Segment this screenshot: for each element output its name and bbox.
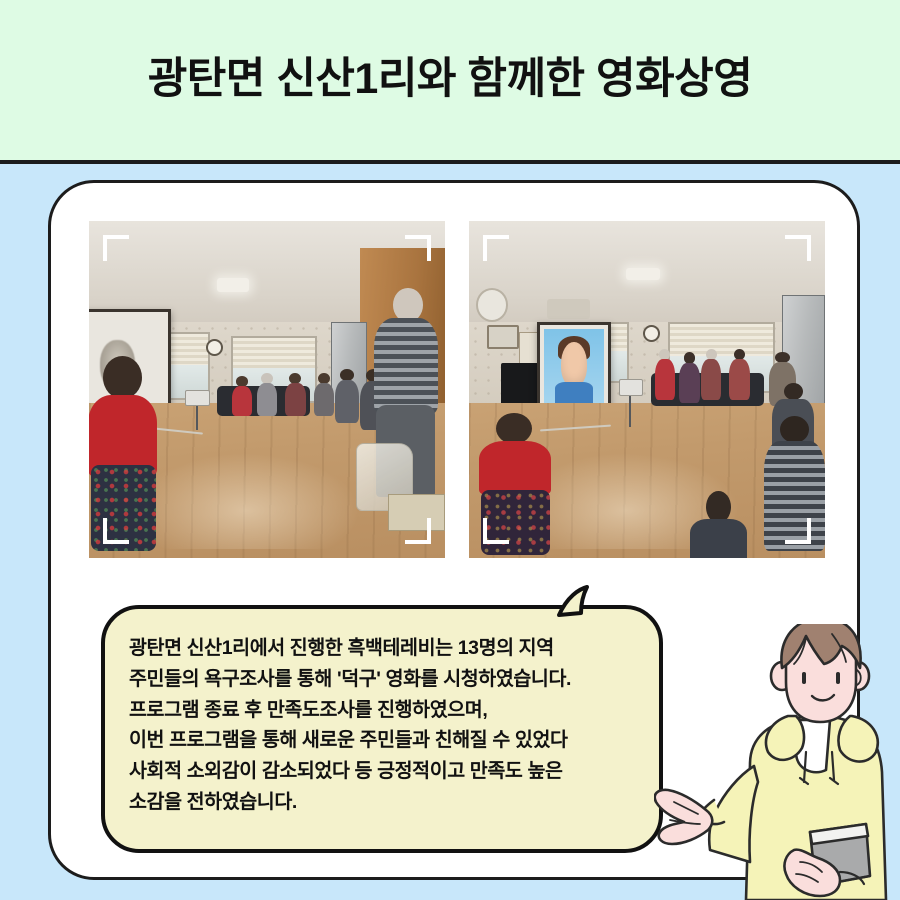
picture-frame <box>487 325 519 349</box>
window-blind <box>233 338 314 368</box>
air-conditioner <box>547 299 590 319</box>
seated-person <box>654 349 675 400</box>
seated-person-foreground-left <box>476 413 554 555</box>
photo-right-scene <box>469 221 825 558</box>
header-banner: 광탄면 신산1리와 함께한 영화상영 <box>0 0 900 164</box>
speech-bubble-tail-icon <box>557 583 613 617</box>
photo-right[interactable] <box>469 221 825 558</box>
movie-character-face <box>561 342 588 387</box>
photo-left[interactable] <box>89 221 445 558</box>
seated-person <box>679 352 700 403</box>
projector-stand <box>196 406 198 430</box>
floor-reflection <box>132 453 360 549</box>
seated-person <box>335 369 360 423</box>
page-title: 광탄면 신산1리와 함께한 영화상영 <box>148 44 753 116</box>
projector <box>619 379 644 396</box>
ceiling-light <box>217 278 249 292</box>
seated-person <box>313 373 334 417</box>
photo-left-scene <box>89 221 445 558</box>
ceiling-light <box>626 268 660 280</box>
seated-person <box>285 373 306 417</box>
waving-student-illustration <box>654 624 900 900</box>
projector-stand <box>629 396 631 426</box>
window-blind <box>670 324 773 356</box>
speech-bubble-text: 광탄면 신산1리에서 진행한 흑백테레비는 13명의 지역 주민들의 욕구조사를… <box>129 633 637 818</box>
photo-gallery <box>89 221 825 558</box>
movie-frame <box>544 329 605 409</box>
projector <box>185 390 210 407</box>
seated-person <box>231 376 252 416</box>
seated-person <box>700 349 721 400</box>
box-stack <box>388 494 445 531</box>
poster-root: 광탄면 신산1리와 함께한 영화상영 <box>0 0 900 900</box>
seated-person-foreground-right <box>764 416 825 551</box>
seated-person <box>729 349 750 400</box>
seated-person-foreground-left <box>89 356 160 551</box>
seated-person-foreground-bottom <box>690 491 747 558</box>
speech-bubble: 광탄면 신산1리에서 진행한 흑백테레비는 13명의 지역 주민들의 욕구조사를… <box>101 605 663 853</box>
seated-person <box>256 373 277 417</box>
wall-fan <box>476 288 508 322</box>
